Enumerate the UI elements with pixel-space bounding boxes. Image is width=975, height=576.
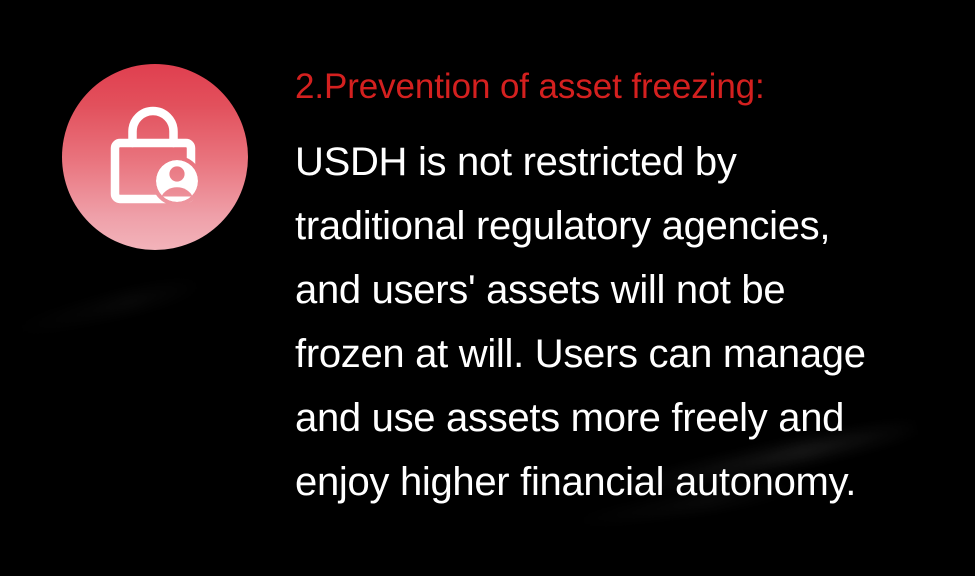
body-line: USDH is not restricted by <box>295 130 935 194</box>
text-column: 2.Prevention of asset freezing: USDH is … <box>295 64 935 514</box>
icon-container <box>62 64 248 250</box>
lock-user-icon-disc <box>62 64 248 250</box>
body-line: and users' assets will not be <box>295 258 935 322</box>
body-line: enjoy higher financial autonomy. <box>295 450 935 514</box>
feature-card: 2.Prevention of asset freezing: USDH is … <box>0 0 975 576</box>
body-line: traditional regulatory agencies, <box>295 194 935 258</box>
body-line: frozen at will. Users can manage <box>295 322 935 386</box>
body-line: and use assets more freely and <box>295 386 935 450</box>
lock-user-icon <box>99 101 211 213</box>
body-paragraph: USDH is not restricted by traditional re… <box>295 130 935 514</box>
section-heading: 2.Prevention of asset freezing: <box>295 64 935 110</box>
slide-background: 2.Prevention of asset freezing: USDH is … <box>0 0 975 576</box>
